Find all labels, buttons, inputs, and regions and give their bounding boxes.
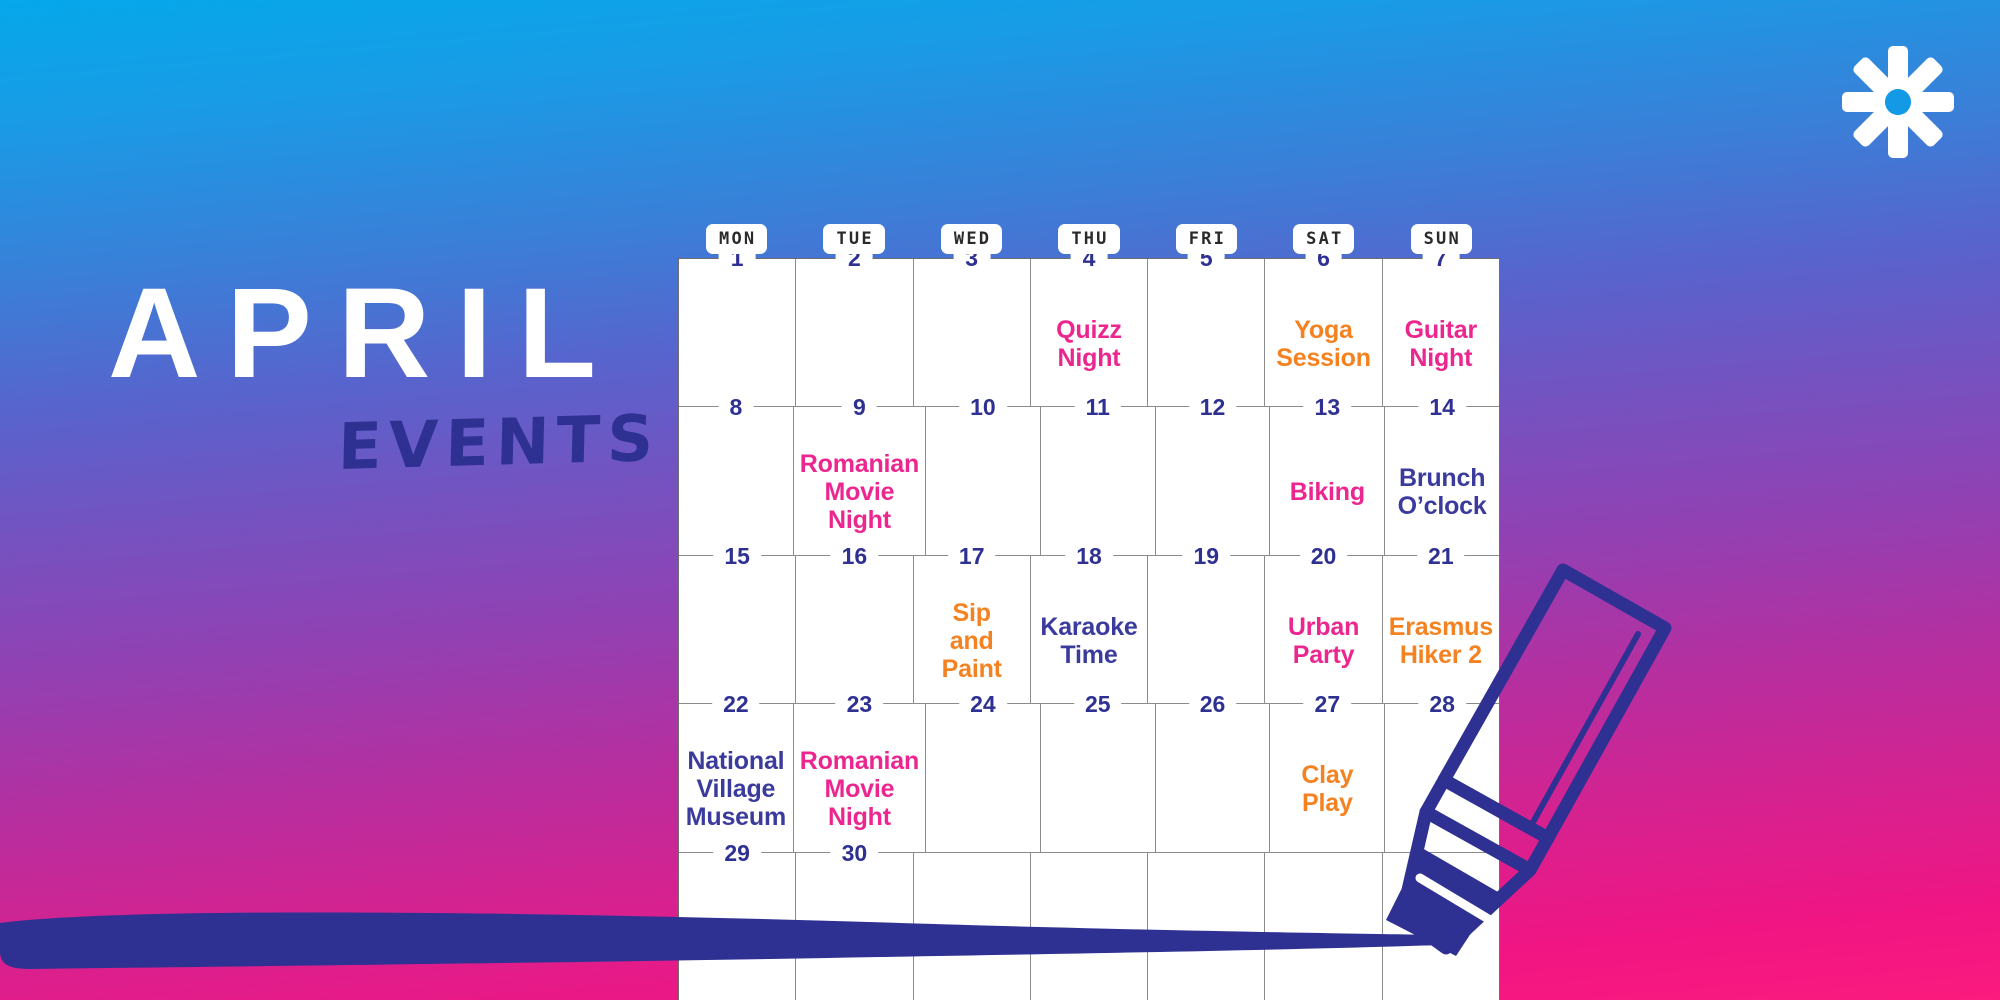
day-number: 22 bbox=[712, 689, 760, 719]
calendar-event-label[interactable]: QuizzNight bbox=[1056, 316, 1122, 372]
day-number: 10 bbox=[959, 392, 1007, 422]
calendar-day-cell[interactable]: 27ClayPlay bbox=[1269, 704, 1384, 851]
day-number: 27 bbox=[1304, 689, 1352, 719]
calendar-day-cell[interactable]: 26 bbox=[1155, 704, 1270, 851]
day-number: 17 bbox=[948, 541, 996, 571]
calendar-day-cell[interactable]: 8 bbox=[679, 407, 793, 554]
weekday-slot: TUE bbox=[795, 224, 912, 254]
calendar-event-label[interactable]: YogaSession bbox=[1276, 316, 1370, 372]
day-number: 8 bbox=[718, 392, 753, 422]
calendar-day-cell[interactable]: 17SipandPaint bbox=[913, 556, 1030, 703]
calendar-event-label[interactable]: Biking bbox=[1290, 478, 1365, 506]
day-number: 30 bbox=[831, 838, 879, 868]
calendar-event-label[interactable]: GuitarNight bbox=[1405, 316, 1477, 372]
calendar-day-cell[interactable]: 25 bbox=[1040, 704, 1155, 851]
calendar-day-cell[interactable]: 1 bbox=[679, 259, 795, 406]
weekday-label-thu: THU bbox=[1058, 224, 1119, 254]
day-number: 26 bbox=[1189, 689, 1237, 719]
page-subtitle: EVENTS bbox=[337, 407, 660, 480]
weekday-slot: WED bbox=[913, 224, 1030, 254]
calendar-day-cell[interactable]: 4QuizzNight bbox=[1030, 259, 1147, 406]
marker-stroke-icon bbox=[0, 895, 1470, 995]
calendar-day-cell[interactable]: 5 bbox=[1147, 259, 1264, 406]
weekday-label-tue: TUE bbox=[823, 224, 884, 254]
weekday-slot: FRI bbox=[1148, 224, 1265, 254]
calendar-day-cell[interactable]: 23RomanianMovieNight bbox=[793, 704, 925, 851]
day-number: 29 bbox=[713, 838, 761, 868]
day-number: 24 bbox=[959, 689, 1007, 719]
day-number: 19 bbox=[1182, 541, 1230, 571]
day-number: 25 bbox=[1074, 689, 1122, 719]
calendar-week-row: 22NationalVillageMuseum23RomanianMovieNi… bbox=[679, 703, 1499, 851]
day-number: 13 bbox=[1304, 392, 1352, 422]
calendar-day-cell[interactable]: 2 bbox=[795, 259, 912, 406]
calendar-day-cell[interactable]: 14BrunchO’clock bbox=[1384, 407, 1499, 554]
day-number: 14 bbox=[1418, 392, 1466, 422]
day-number: 18 bbox=[1065, 541, 1113, 571]
calendar-event-label[interactable]: NationalVillageMuseum bbox=[686, 747, 786, 831]
calendar-week-row: 151617SipandPaint18KaraokeTime1920UrbanP… bbox=[679, 555, 1499, 703]
calendar-event-label[interactable]: BrunchO’clock bbox=[1398, 464, 1487, 520]
weekday-slot: SUN bbox=[1383, 224, 1500, 254]
weekday-slot: THU bbox=[1030, 224, 1147, 254]
calendar-day-cell[interactable]: 9RomanianMovieNight bbox=[793, 407, 925, 554]
calendar-day-cell[interactable]: 18KaraokeTime bbox=[1030, 556, 1147, 703]
weekday-slot: MON bbox=[678, 224, 795, 254]
highlighter-marker-icon bbox=[1380, 548, 1680, 968]
calendar-event-label[interactable]: SipandPaint bbox=[942, 599, 1002, 683]
calendar-day-cell[interactable]: 10 bbox=[925, 407, 1040, 554]
day-number: 12 bbox=[1189, 392, 1237, 422]
calendar-day-cell[interactable]: 6YogaSession bbox=[1264, 259, 1381, 406]
day-number: 16 bbox=[831, 541, 879, 571]
calendar-day-cell[interactable]: 7GuitarNight bbox=[1382, 259, 1499, 406]
day-number: 9 bbox=[842, 392, 877, 422]
calendar-day-cell[interactable]: 16 bbox=[795, 556, 912, 703]
calendar-event-label[interactable]: RomanianMovieNight bbox=[800, 747, 919, 831]
calendar-day-cell[interactable]: 19 bbox=[1147, 556, 1264, 703]
weekday-label-sun: SUN bbox=[1411, 224, 1472, 254]
day-number: 15 bbox=[713, 541, 761, 571]
calendar-event-label[interactable]: RomanianMovieNight bbox=[800, 450, 919, 534]
page-title: APRIL bbox=[100, 270, 660, 398]
calendar-grid: 1234QuizzNight56YogaSession7GuitarNight8… bbox=[678, 258, 1500, 1000]
calendar-day-cell[interactable]: 3 bbox=[913, 259, 1030, 406]
calendar-event-label[interactable]: UrbanParty bbox=[1288, 613, 1359, 669]
weekday-label-mon: MON bbox=[706, 224, 767, 254]
calendar-day-cell[interactable]: 12 bbox=[1155, 407, 1270, 554]
calendar-week-row: 1234QuizzNight56YogaSession7GuitarNight bbox=[679, 259, 1499, 406]
day-number: 20 bbox=[1300, 541, 1348, 571]
day-number: 11 bbox=[1075, 392, 1121, 422]
title-block: APRIL EVENTS bbox=[100, 270, 660, 480]
calendar-day-cell[interactable]: 15 bbox=[679, 556, 795, 703]
day-number: 23 bbox=[836, 689, 884, 719]
calendar-event-label[interactable]: KaraokeTime bbox=[1040, 613, 1137, 669]
weekday-header: MONTUEWEDTHUFRISATSUN bbox=[678, 224, 1500, 254]
calendar-day-cell[interactable]: 13Biking bbox=[1269, 407, 1384, 554]
calendar-week-row: 89RomanianMovieNight10111213Biking14Brun… bbox=[679, 406, 1499, 554]
weekday-label-sat: SAT bbox=[1293, 224, 1354, 254]
weekday-slot: SAT bbox=[1265, 224, 1382, 254]
weekday-label-fri: FRI bbox=[1176, 224, 1237, 254]
calendar-day-cell[interactable]: 11 bbox=[1040, 407, 1155, 554]
calendar-day-cell[interactable]: 20UrbanParty bbox=[1264, 556, 1381, 703]
calendar-event-label[interactable]: ClayPlay bbox=[1301, 761, 1353, 817]
weekday-label-wed: WED bbox=[941, 224, 1002, 254]
calendar-day-cell[interactable]: 24 bbox=[925, 704, 1040, 851]
asterisk-snowflake-icon bbox=[1838, 42, 1958, 162]
calendar-day-cell[interactable]: 22NationalVillageMuseum bbox=[679, 704, 793, 851]
